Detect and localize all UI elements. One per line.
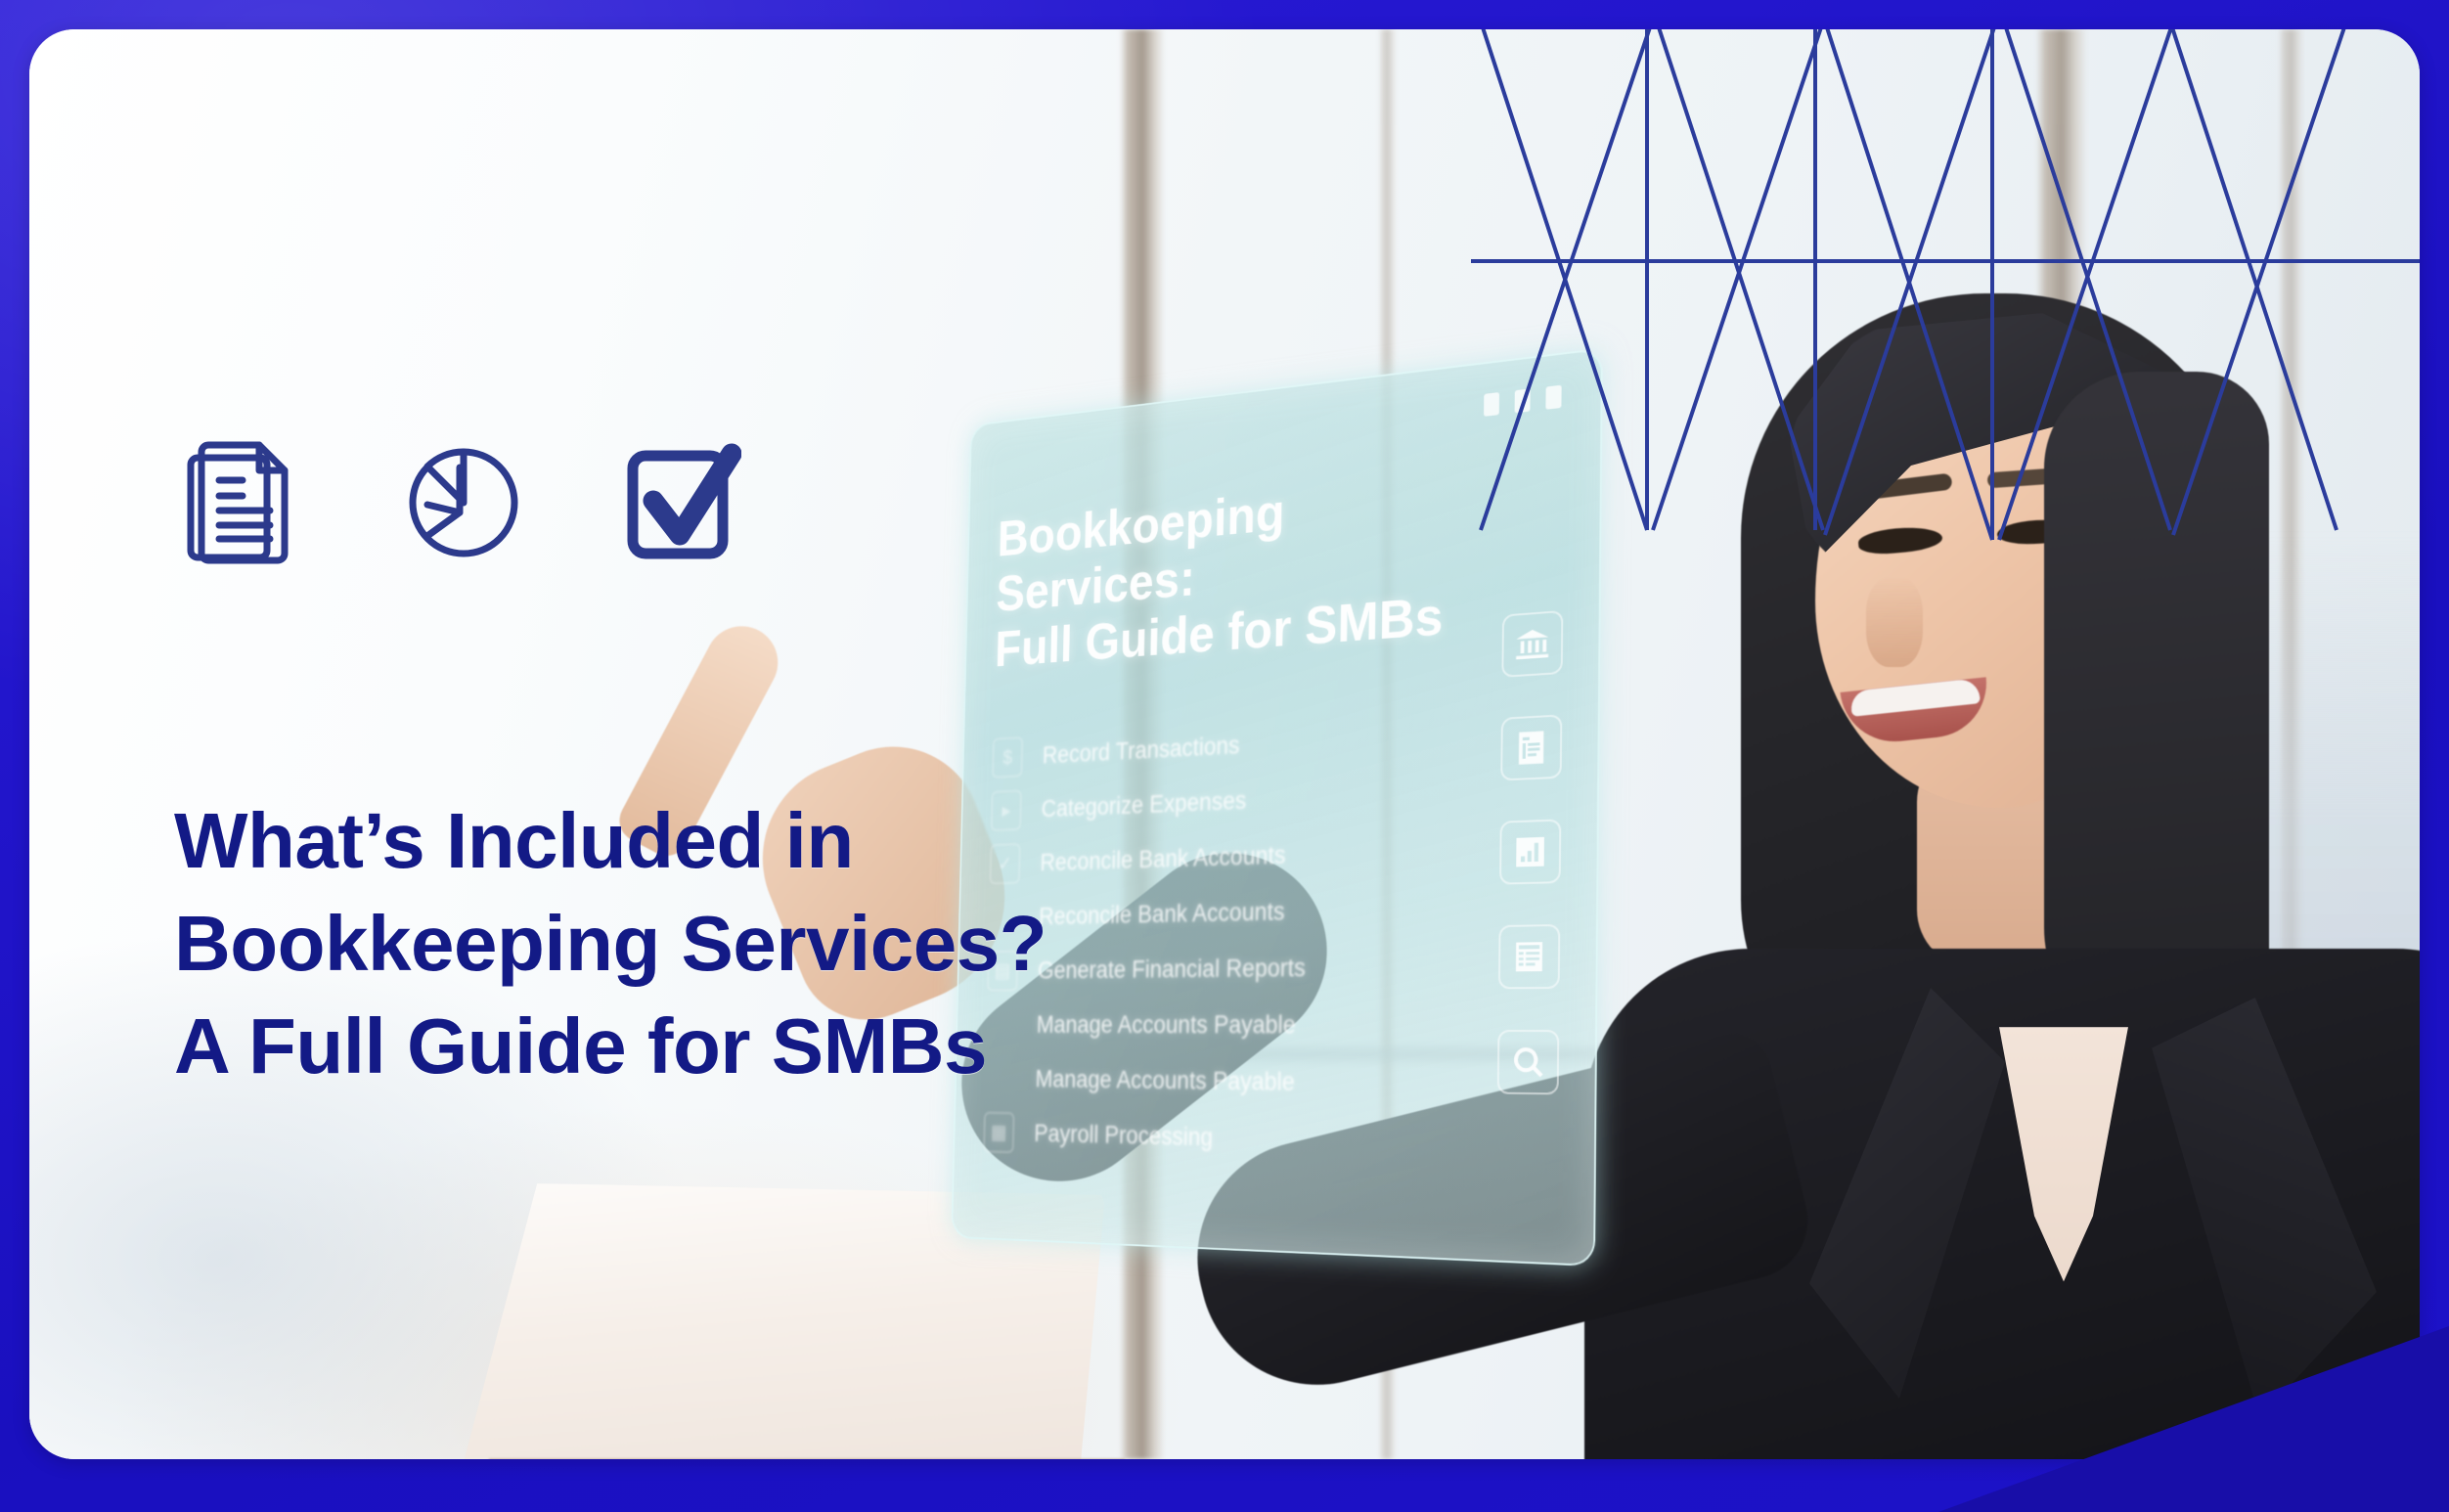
promo-banner: Bookkoeping Services: Full Guide for SMB… (0, 0, 2449, 1512)
search-icon (1497, 1030, 1560, 1094)
list-item: ▤ Generate Financial Reports (987, 943, 1560, 991)
bar-chart-icon (1499, 819, 1561, 884)
bank-icon (1501, 610, 1563, 678)
list-item: ▸ Categorize Expenses (991, 765, 1562, 831)
headline-line-3: A Full Guide for SMBs (174, 996, 1046, 1098)
list-item: Manage Accounts Payable (986, 1002, 1560, 1047)
banner-card: Bookkoeping Services: Full Guide for SMB… (29, 29, 2420, 1459)
window-control-dot (1515, 388, 1531, 413)
list-item-label: Manage Accounts Payable (1036, 1011, 1296, 1041)
list-item: Manage Accounts Payable (985, 1058, 1559, 1108)
page-title: What’s Included in Bookkeeping Services?… (174, 790, 1046, 1097)
hologram-title: Bookkoeping Services: Full Guide for SMB… (995, 463, 1492, 678)
window-control-dot (1545, 385, 1561, 410)
ledger-icon (1498, 924, 1560, 989)
list-item: ✓ Reconcile Bank Accounts (990, 824, 1562, 885)
list-item: $ Record Transactions (992, 706, 1562, 778)
calendar-icon: ▦ (983, 1112, 1014, 1153)
list-item-label: Record Transactions (1043, 732, 1240, 770)
list-item-label: Reconcile Bank Accounts (1040, 841, 1286, 877)
window-control-dot (1484, 392, 1499, 417)
businesswoman (1624, 176, 2420, 1459)
nose (1866, 577, 1923, 667)
money-icon: $ (992, 737, 1023, 779)
checkbox-check-icon (624, 440, 741, 565)
headline-line-2: Bookkeeping Services? (174, 893, 1046, 996)
list-item-label: Categorize Expenses (1041, 786, 1246, 823)
list-item-label: Generate Financial Reports (1038, 954, 1306, 985)
list-item-label: Payroll Processing (1034, 1120, 1213, 1152)
list-item-label: Manage Accounts Payable (1035, 1065, 1295, 1096)
list-item-label: Reconcile Bank Accounts (1039, 898, 1285, 931)
invoice-icon (1500, 714, 1562, 780)
list-item: ▦ Payroll Processing (983, 1112, 1558, 1168)
hologram-icon-rail (1497, 610, 1564, 1095)
window-controls (1484, 385, 1562, 417)
headline-line-1: What’s Included in (174, 790, 1046, 893)
feature-icon-row (186, 440, 741, 565)
pie-chart-icon (399, 442, 520, 563)
hologram-service-list: $ Record Transactions ▸ Categorize Expen… (983, 706, 1562, 1169)
documents-icon (186, 440, 295, 565)
hologram-content: Bookkoeping Services: Full Guide for SMB… (951, 348, 1603, 1267)
list-item: Reconcile Bank Accounts (988, 884, 1560, 939)
